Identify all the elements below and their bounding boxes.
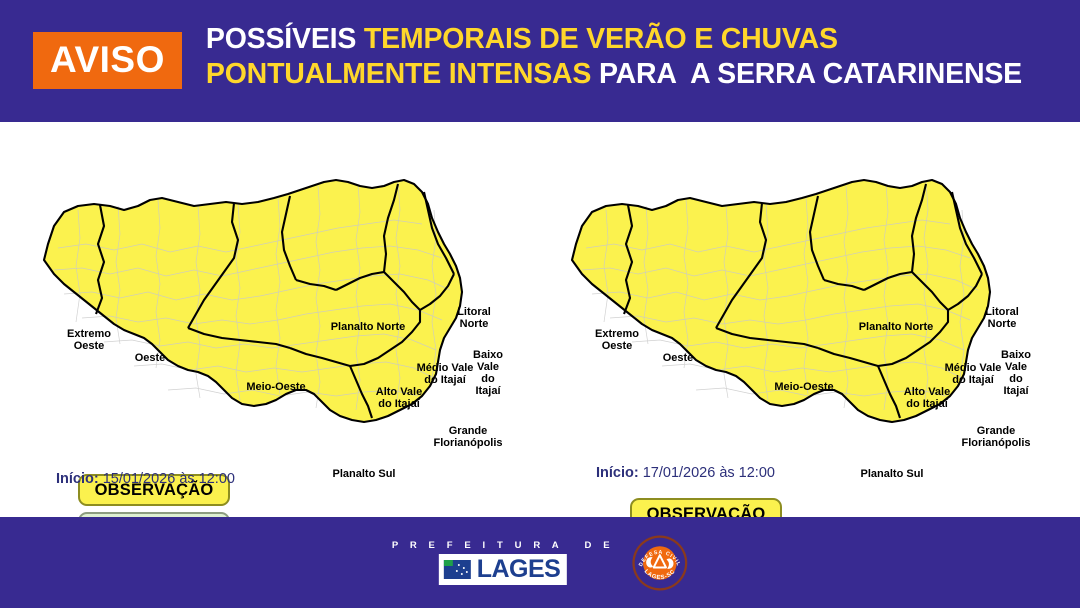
date-inicio-right-value: 17/01/2026 às 12:00 — [643, 465, 775, 481]
date-inicio-left-label: Início: — [56, 471, 99, 487]
prefeitura-wordmark: LAGES — [439, 554, 568, 585]
headline-line-1: POSSÍVEIS TEMPORAIS DE VERÃO E CHUVAS — [206, 22, 1022, 57]
date-inicio-right: Início: 17/01/2026 às 12:00 — [596, 463, 775, 484]
santa-catarina-map-left[interactable] — [38, 148, 508, 448]
defesa-civil-badge: DEFESA CIVIL LAGES-SC — [632, 535, 688, 591]
flag-star — [456, 570, 458, 572]
flag-star — [463, 567, 465, 569]
headline-line-2-yellow: PONTUALMENTE INTENSAS — [206, 58, 599, 90]
defesa-civil-logo: DEFESA CIVIL LAGES-SC — [632, 535, 688, 591]
alert-header: AVISO POSSÍVEIS TEMPORAIS DE VERÃO E CHU… — [0, 0, 1080, 122]
headline-line-1-white: POSSÍVEIS — [206, 23, 364, 55]
prefeitura-name: LAGES — [477, 557, 561, 582]
prefeitura-label: P R E F E I T U R A D E — [392, 540, 614, 551]
region-label-planalto-sul: Planalto Sul — [324, 468, 404, 480]
headline-line-2-white: PARA A SERRA CATARINENSE — [599, 58, 1022, 90]
map-panel-right: ExtremoOeste Oeste Meio-Oeste Planalto N… — [540, 122, 1080, 517]
prefeitura-lages-logo: P R E F E I T U R A D E LAGES — [392, 540, 614, 585]
santa-catarina-map-right[interactable] — [566, 148, 1036, 448]
date-inicio-right-label: Início: — [596, 465, 639, 481]
flag-star — [458, 564, 460, 566]
footer-bar: P R E F E I T U R A D E LAGES — [0, 517, 1080, 608]
lages-flag-icon — [444, 560, 471, 579]
date-inicio-left-value: 15/01/2026 às 12:00 — [103, 471, 235, 487]
footer-logos: P R E F E I T U R A D E LAGES — [392, 535, 688, 591]
flag-star — [466, 571, 468, 573]
headline: POSSÍVEIS TEMPORAIS DE VERÃO E CHUVAS PO… — [206, 22, 1022, 92]
date-inicio-left: Início: 15/01/2026 às 12:00 — [56, 469, 235, 490]
headline-line-1-yellow: TEMPORAIS DE VERÃO E CHUVAS — [364, 23, 838, 55]
map-panel-left: ExtremoOeste Oeste Meio-Oeste Planalto N… — [0, 122, 540, 517]
flag-star — [461, 573, 463, 575]
aviso-badge: AVISO — [33, 32, 182, 89]
maps-content: ExtremoOeste Oeste Meio-Oeste Planalto N… — [0, 122, 1080, 517]
region-label-planalto-sul: Planalto Sul — [852, 468, 932, 480]
headline-line-2: PONTUALMENTE INTENSAS PARA A SERRA CATAR… — [206, 57, 1022, 92]
flag-green-corner — [444, 560, 453, 566]
